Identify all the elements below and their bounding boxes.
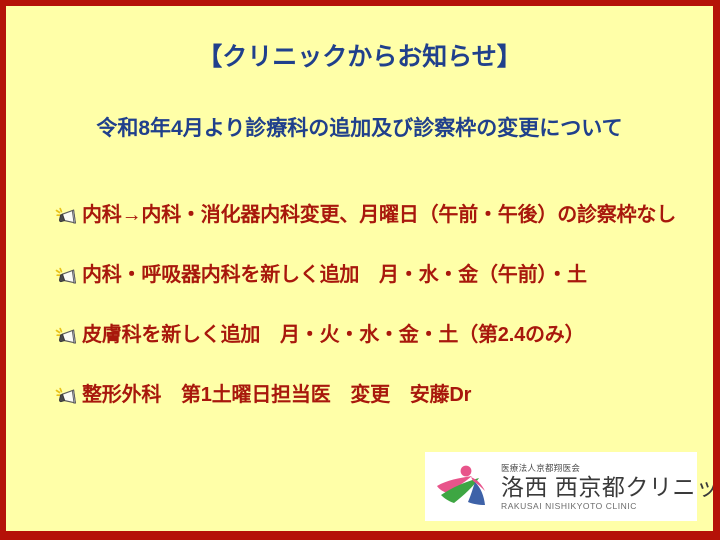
heading-block: 【クリニックからお知らせ】 令和8年4月より診療科の追加及び診察枠の変更について xyxy=(6,42,713,142)
list-item: 内科→内科・消化器内科変更、月曜日（午前・午後）の診察枠なし xyxy=(54,203,704,263)
list-item-label: 内科→内科・消化器内科変更、月曜日（午前・午後）の診察枠なし xyxy=(82,203,676,227)
megaphone-icon xyxy=(54,386,78,410)
logo-clinic-name: 洛西 西京都クリニック xyxy=(501,474,720,500)
list-item-label: 整形外科 第1土曜日担当医 変更 安藤Dr xyxy=(82,383,471,407)
list-item: 皮膚科を新しく追加 月・火・水・金・土（第2.4のみ） xyxy=(54,323,704,383)
megaphone-icon xyxy=(54,266,78,290)
clinic-logo: 医療法人京都翔医会 洛西 西京都クリニック RAKUSAI NISHIKYOTO… xyxy=(425,452,697,521)
megaphone-icon xyxy=(54,206,78,230)
page-title: 【クリニックからお知らせ】 xyxy=(6,42,713,72)
rakusai-clinic-logo-mark-icon xyxy=(435,462,495,512)
list-item: 整形外科 第1土曜日担当医 変更 安藤Dr xyxy=(54,383,704,443)
list-item-label: 皮膚科を新しく追加 月・火・水・金・土（第2.4のみ） xyxy=(82,323,584,347)
list-item: 内科・呼吸器内科を新しく追加 月・水・金（午前）・土 xyxy=(54,263,704,323)
logo-clinic-name-romaji: RAKUSAI NISHIKYOTO CLINIC xyxy=(501,501,720,511)
logo-corporation-name: 医療法人京都翔医会 xyxy=(501,463,720,473)
announcement-list: 内科→内科・消化器内科変更、月曜日（午前・午後）の診察枠なし 内科・呼吸器内科を… xyxy=(54,203,704,443)
announcement-slide: 【クリニックからお知らせ】 令和8年4月より診療科の追加及び診察枠の変更について… xyxy=(0,0,720,540)
page-subtitle: 令和8年4月より診療科の追加及び診察枠の変更について xyxy=(6,116,713,142)
list-item-label: 内科・呼吸器内科を新しく追加 月・水・金（午前）・土 xyxy=(82,263,587,287)
logo-wordmark: 医療法人京都翔医会 洛西 西京都クリニック RAKUSAI NISHIKYOTO… xyxy=(501,463,720,511)
megaphone-icon xyxy=(54,326,78,350)
